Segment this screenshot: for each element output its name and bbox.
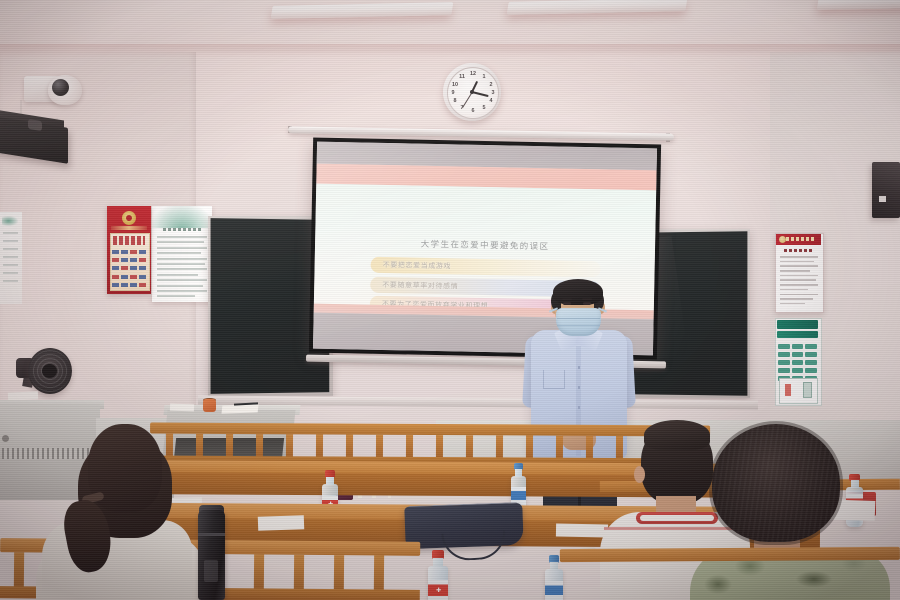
diagram-bar-red (785, 384, 791, 396)
presenter-eyebrow-left (562, 298, 572, 300)
clock-numeral: 8 (451, 98, 459, 104)
green-ink-wash (152, 206, 212, 228)
notice-poster-seal-icon (779, 236, 786, 243)
clock-numeral: 12 (469, 71, 477, 77)
clock-numeral: 6 (469, 108, 477, 114)
open-book (222, 404, 259, 413)
cabinet-knob (2, 435, 9, 442)
clock-numeral: 9 (449, 90, 457, 96)
student-center-ear (634, 466, 645, 483)
black-thermos (198, 510, 225, 600)
red-poster-subtitle-bar (111, 226, 147, 230)
clock-numeral: 1 (480, 74, 488, 80)
presenter-face-mask (556, 308, 601, 336)
bench-row-far (150, 423, 710, 466)
slide-title: 大学生在恋爱中要避免的误区 (315, 236, 655, 255)
notice-poster-body (780, 256, 818, 308)
slide-canvas: 大学生在恋爱中要避免的误区 不要把恋爱当成游戏 不要随意草率对待感情 不要为了恋… (313, 142, 657, 356)
clock-numeral: 4 (487, 98, 495, 104)
presenter-eyebrow-right (582, 298, 592, 300)
mask-pleat (557, 325, 600, 326)
left-edge-poster-line (3, 232, 18, 234)
left-edge-poster-mark (2, 216, 18, 226)
green-poster-title (163, 228, 201, 231)
presenter-eye-left (563, 302, 571, 305)
bottle-cross-icon: ✚ (436, 588, 441, 594)
thermos-label (204, 560, 218, 582)
left-edge-poster-line (3, 280, 18, 282)
diagram-bar-grey (803, 382, 812, 398)
green-poster-text-block (157, 236, 207, 301)
notice-poster-subtitle (784, 249, 814, 252)
clock-numeral: 11 (458, 74, 466, 80)
student-center-hair (644, 420, 710, 450)
teal-poster-header (777, 320, 818, 329)
left-edge-poster-line (3, 240, 18, 242)
clock-numeral: 5 (480, 105, 488, 111)
red-poster-headline (113, 236, 145, 245)
pull-down-projection-screen: 大学生在恋爱中要避免的误区 不要把恋爱当成游戏 不要随意草率对待感情 不要为了恋… (309, 138, 661, 360)
left-edge-poster-line (3, 256, 18, 258)
presenter-eye-right (583, 302, 591, 305)
left-edge-poster-line (3, 264, 18, 266)
paper-sheet (170, 404, 194, 412)
bench-row-near-right (560, 547, 900, 600)
teal-poster-subheader (777, 331, 818, 338)
presenter-hair (553, 279, 603, 305)
student-center-collar-inner (640, 515, 714, 521)
notice-poster-header-text (786, 237, 816, 241)
fluorescent-tube-light-3 (817, 0, 900, 10)
clock-center-pin (470, 90, 474, 94)
clock-numeral: 10 (451, 82, 459, 88)
slide-content-area: 大学生在恋爱中要避免的误区 不要把恋爱当成游戏 不要随意草率对待感情 不要为了恋… (314, 184, 656, 311)
emblem-inner (126, 215, 132, 221)
bag-handle[interactable] (441, 530, 506, 561)
fan-hub (42, 364, 57, 378)
mask-pleat (557, 318, 600, 319)
projector-lens-icon (28, 119, 42, 131)
cabinet-vent (2, 448, 94, 459)
orange-cup (203, 399, 216, 412)
student-center-shirt-stripe (604, 527, 746, 530)
camera-lens-icon (52, 79, 69, 96)
speaker-led-icon (879, 196, 886, 202)
paper-sheet (258, 515, 304, 531)
bench-top-rail (150, 423, 710, 437)
core-values-grid (112, 250, 146, 286)
paper-sheet (556, 524, 608, 538)
thermos-ring (198, 533, 225, 536)
student-right-hair-texture (712, 424, 840, 542)
ceiling-shadow (0, 44, 900, 58)
clock-numeral: 3 (489, 90, 497, 96)
left-edge-poster-line (3, 248, 18, 250)
presenter-shirt-pocket (543, 370, 565, 389)
slide-bullet-item: 不要把恋爱当成游戏 (370, 257, 600, 278)
left-edge-poster-line (3, 272, 18, 274)
wall-speaker (872, 162, 900, 218)
classroom-scene: 12 1 2 3 4 5 6 7 8 9 10 11 (0, 0, 900, 600)
clock-numeral: 2 (487, 82, 495, 88)
bench-top-rail (560, 547, 900, 562)
